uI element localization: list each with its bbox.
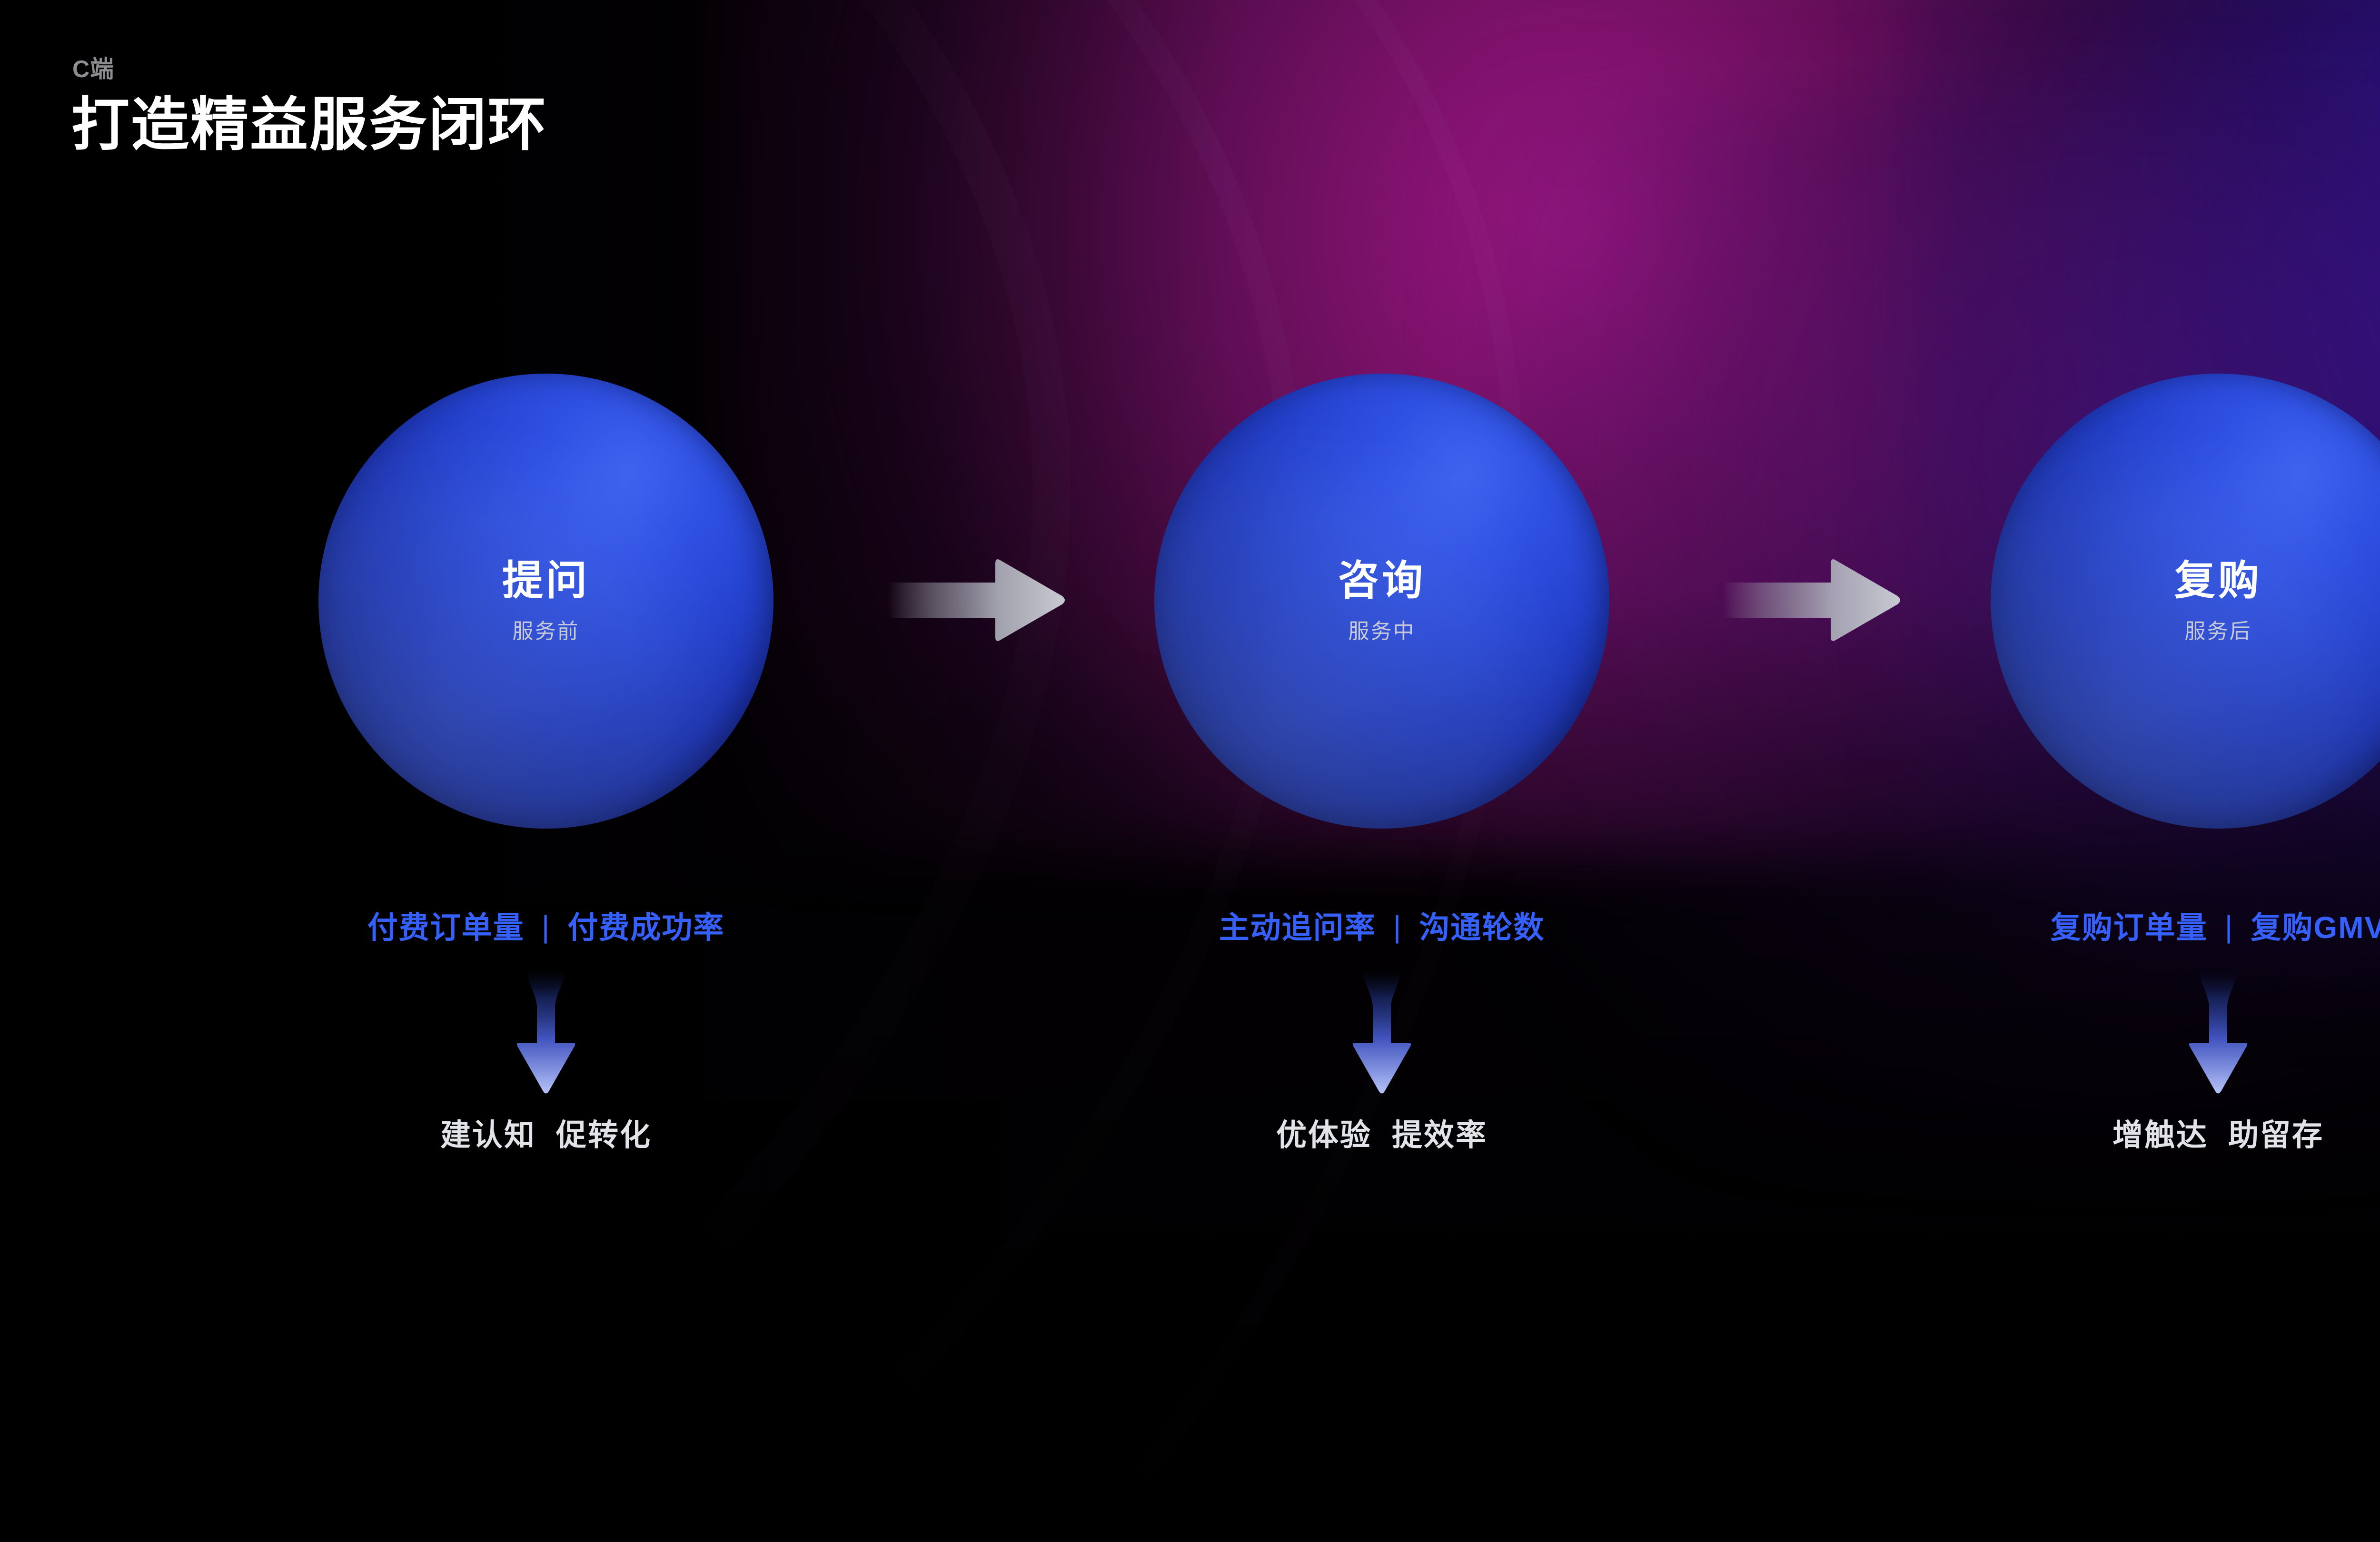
- arrow-down-icon: [1351, 970, 1413, 1095]
- outcome-label: 优体验: [1276, 1118, 1372, 1152]
- stage-sphere[interactable]: 提问 服务前: [318, 374, 773, 829]
- metric-label: 主动追问率: [1219, 910, 1376, 945]
- outcome-row: 增触达助留存: [1861, 1120, 2380, 1150]
- metric-separator: |: [1393, 911, 1402, 942]
- metric-label: 复购GMV: [2251, 910, 2380, 945]
- stage-column-pre-service: 提问 服务前 付费订单量|付费成功率 建认知促转化: [189, 374, 903, 1150]
- sphere-title: 咨询: [1154, 560, 1609, 601]
- slide-canvas: C端 打造精益服务闭环: [0, 0, 2380, 1542]
- sphere-labels: 提问 服务前: [318, 560, 773, 642]
- metrics-row: 主动追问率|沟通轮数: [1025, 912, 1739, 943]
- stage-columns: 提问 服务前 付费订单量|付费成功率 建认知促转化: [0, 0, 2380, 1542]
- metrics-row: 复购订单量|复购GMV: [1861, 912, 2380, 943]
- eyebrow-label: C端: [72, 57, 547, 81]
- metric-separator: |: [542, 911, 551, 942]
- outcome-label: 增触达: [2112, 1118, 2208, 1152]
- arrow-right-icon: [1714, 556, 1904, 644]
- outcome-label: 助留存: [2228, 1118, 2324, 1152]
- metric-separator: |: [2225, 911, 2234, 942]
- metric-label: 复购订单量: [2051, 910, 2208, 945]
- outcome-row: 建认知促转化: [189, 1120, 903, 1150]
- metric-label: 沟通轮数: [1419, 910, 1545, 945]
- slide-header: C端 打造精益服务闭环: [71, 57, 547, 155]
- sphere-subtitle: 服务前: [318, 621, 773, 642]
- sphere-subtitle: 服务中: [1154, 621, 1609, 642]
- outcome-label: 提效率: [1392, 1118, 1487, 1152]
- sphere-labels: 咨询 服务中: [1154, 560, 1609, 642]
- metric-label: 付费订单量: [367, 910, 525, 945]
- outcome-label: 促转化: [556, 1118, 652, 1152]
- stage-sphere[interactable]: 咨询 服务中: [1154, 374, 1609, 829]
- outcome-label: 建认知: [440, 1118, 536, 1152]
- arrow-right-icon: [878, 556, 1069, 644]
- outcome-row: 优体验提效率: [1025, 1120, 1739, 1150]
- stage-sphere[interactable]: 复购 服务后: [1991, 374, 2380, 829]
- stage-column-post-service: 复购 服务后 复购订单量|复购GMV 增触达助留存: [1861, 374, 2380, 1150]
- sphere-subtitle: 服务后: [1991, 621, 2380, 642]
- sphere-labels: 复购 服务后: [1991, 560, 2380, 642]
- stage-column-in-service: 咨询 服务中 主动追问率|沟通轮数 优体验提效率: [1025, 374, 1739, 1150]
- metrics-row: 付费订单量|付费成功率: [189, 912, 903, 943]
- arrow-down-icon: [2187, 970, 2249, 1095]
- sphere-title: 复购: [1991, 560, 2380, 601]
- metric-label: 付费成功率: [567, 910, 724, 945]
- page-title: 打造精益服务闭环: [71, 94, 547, 155]
- arrow-down-icon: [515, 970, 577, 1095]
- sphere-title: 提问: [318, 560, 773, 601]
